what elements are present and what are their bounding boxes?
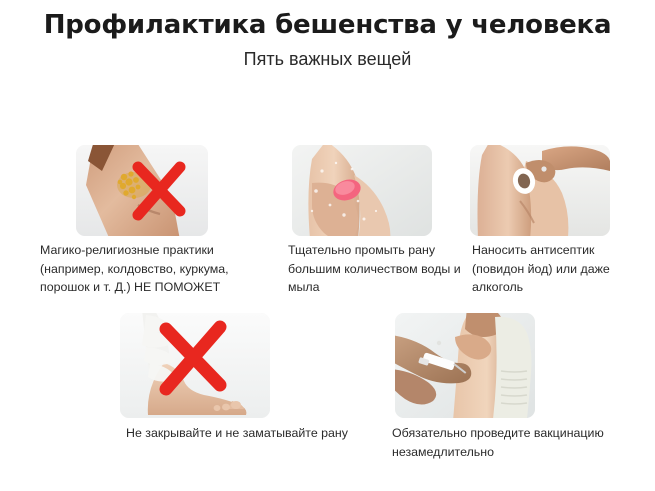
illustration-antiseptic [470,145,610,236]
poster-header: Профилактика бешенства у человека Пять в… [0,0,655,70]
illustration-washing-leg [292,145,432,236]
illustration-bandaged-foot [120,313,270,418]
step-caption-4: Не закрывайте и не заматывайте рану [126,424,376,443]
photo-washing-leg-with-sponge [292,145,432,236]
photo-applying-antiseptic-swab [470,145,610,236]
photo-vaccination-injection-shoulder [395,313,535,418]
page-title: Профилактика бешенства у человека [0,0,655,41]
photo-arm-wound-turmeric-crossed-out [76,145,208,236]
photo-bandaged-foot-crossed-out [120,313,270,418]
step-caption-2: Тщательно промыть рану большим количеств… [288,241,464,297]
step-caption-1: Магико-религиозные практики (например, к… [40,241,272,297]
step-caption-5: Обязательно проведите вакцинацию незамед… [392,424,642,461]
illustration-arm-wound [76,145,208,236]
step-caption-3: Наносить антисептик (повидон йод) или да… [472,241,648,297]
page-subtitle: Пять важных вещей [0,41,655,70]
illustration-vaccination [395,313,535,418]
